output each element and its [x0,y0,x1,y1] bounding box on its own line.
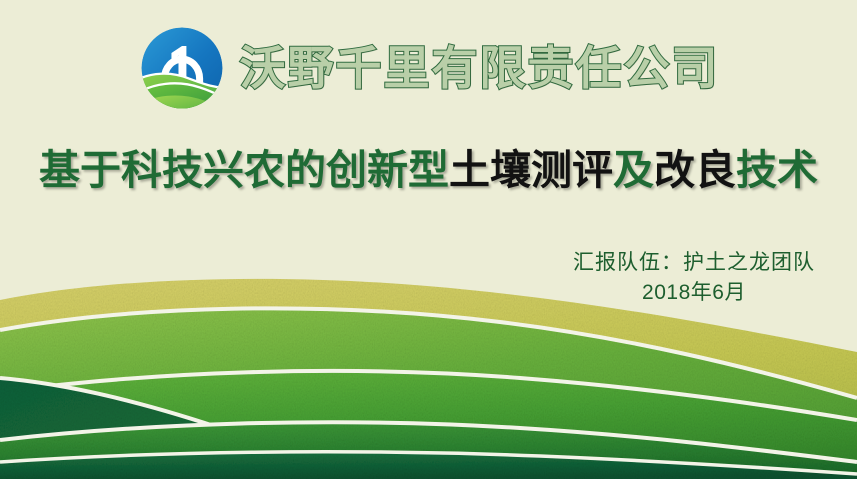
page-title: 基于科技兴农的创新型土壤测评及改良技术 [0,148,857,193]
divider-curve-2 [0,371,857,420]
divider-curve-3 [0,422,857,462]
logo-hill-front [138,96,226,112]
presentation-slide: 沃野千里有限责任公司 基于科技兴农的创新型土壤测评及改良技术 汇报队伍：护土之龙… [0,0,857,479]
header-row: 沃野千里有限责任公司 [0,22,857,114]
band-light-green-hill [0,308,857,479]
title-segment-1: 基于科技兴农的创新型 [39,147,449,193]
band-mid-green-field [0,371,857,479]
presenter-team: 汇报队伍：护土之龙团队 [573,248,815,278]
divider-curve-1 [0,308,857,398]
presentation-date: 2018年6月 [573,278,815,308]
title-segment-4: 改良 [654,147,736,193]
title-segment-5: 技术 [736,147,818,193]
divider-curve-4 [0,452,857,474]
divider-curve-wedge [0,378,232,432]
band-deep-green-field [0,422,857,479]
band-left-dark-wedge [0,378,250,438]
title-segment-3: 及 [613,147,654,193]
presenter-block: 汇报队伍：护土之龙团队 2018年6月 [573,248,815,309]
company-name: 沃野千里有限责任公司 [240,45,720,91]
band-dark-green-base [0,452,857,479]
title-segment-2: 土壤测评 [449,147,613,193]
company-logo-circle-one [138,24,226,112]
